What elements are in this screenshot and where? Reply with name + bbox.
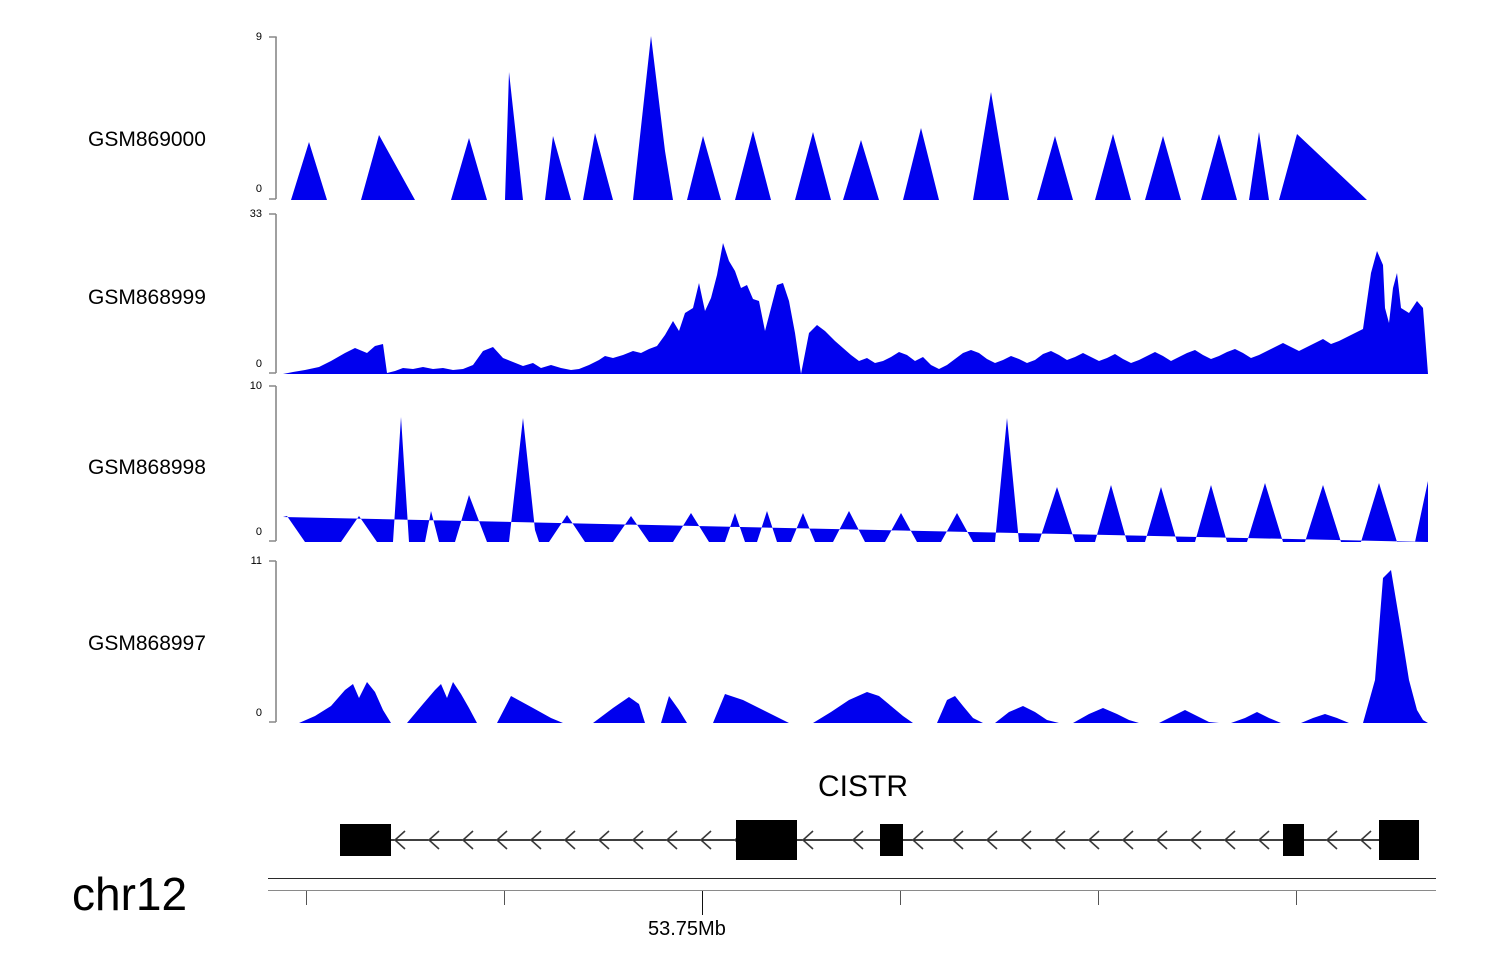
axis-line-outer	[268, 878, 1436, 879]
axis-line-inner	[268, 890, 1436, 891]
track-3-axis-min: 0	[218, 526, 262, 538]
track-3-area	[283, 417, 1428, 542]
track-4-axis-min: 0	[218, 707, 262, 719]
track-4-axis-max: 11	[218, 555, 262, 567]
axis-tick	[1098, 891, 1099, 905]
axis-tick	[1296, 891, 1297, 905]
track-2-area	[283, 243, 1428, 374]
axis-tick	[306, 891, 307, 905]
coverage-track-4: GSM868997 11 0	[0, 552, 1500, 724]
track-3-axis-max: 10	[218, 380, 262, 392]
coverage-track-1: GSM869000 9 0	[0, 28, 1500, 200]
track-2-axis-max: 33	[218, 208, 262, 220]
chromosome-label: chr12	[72, 867, 187, 921]
genome-axis[interactable]	[268, 878, 1436, 918]
track-3-plot	[283, 385, 1428, 542]
track-4-axis-bracket	[263, 560, 277, 732]
exon-block	[340, 824, 391, 856]
axis-tick	[900, 891, 901, 905]
axis-tick-label: 53.75Mb	[648, 918, 726, 941]
track-1-axis-max: 9	[218, 31, 262, 43]
coverage-track-3: GSM868998 10 0	[0, 378, 1500, 546]
track-2-axis-bracket	[263, 213, 277, 383]
track-1-plot	[283, 36, 1368, 200]
exon-block	[1283, 824, 1304, 856]
exon-block	[880, 824, 903, 856]
track-3-axis-bracket	[263, 385, 277, 553]
track-2-plot	[283, 213, 1428, 374]
track-1-area	[283, 36, 1368, 200]
exon-block	[736, 820, 797, 860]
track-label-4: GSM868997	[88, 632, 206, 656]
coverage-track-2: GSM868999 33 0	[0, 205, 1500, 375]
track-label-2: GSM868999	[88, 286, 206, 310]
gene-model-track[interactable]	[283, 818, 1428, 864]
genome-browser-canvas: GSM869000 9 0 GSM868999 33 0 GSM868998 1…	[0, 0, 1500, 980]
track-2-axis-min: 0	[218, 358, 262, 370]
track-4-plot	[283, 560, 1428, 723]
exon-block	[1379, 820, 1419, 860]
track-4-area	[283, 570, 1428, 723]
gene-name-label: CISTR	[818, 770, 908, 804]
track-1-axis-bracket	[263, 36, 277, 208]
axis-tick-major	[702, 891, 703, 915]
track-label-1: GSM869000	[88, 128, 206, 152]
axis-tick	[504, 891, 505, 905]
track-1-axis-min: 0	[218, 183, 262, 195]
track-label-3: GSM868998	[88, 456, 206, 480]
